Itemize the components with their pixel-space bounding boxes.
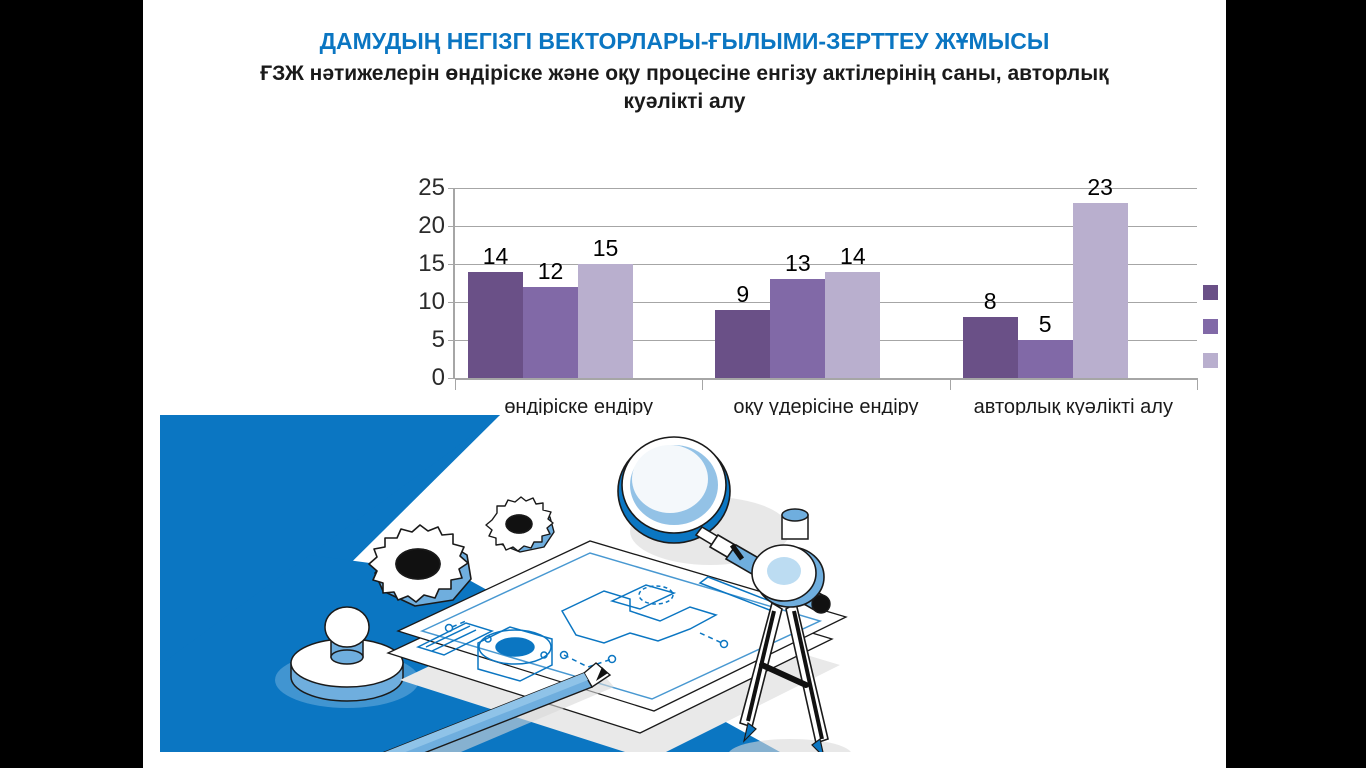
chart-bar-value-label: 23 [1073,176,1128,199]
legend-item-2022[interactable]: 2022 [1203,275,1226,309]
y-axis-label: 15 [365,252,445,276]
y-axis-tick [448,188,455,189]
x-axis-separator [1197,378,1198,390]
y-axis-tick [448,378,455,379]
chart-bar-value-label: 12 [523,260,578,283]
y-axis-label: 25 [365,176,445,200]
chart-legend: 202220232024 [1203,275,1226,377]
y-axis-tick [448,340,455,341]
chart-bar-value-label: 9 [715,283,770,306]
chart-bar-value-label: 14 [825,245,880,268]
y-axis-label: 5 [365,328,445,352]
isometric-engineering-blueprint-illustration [160,415,1160,752]
chart-bar [468,272,523,378]
chart-plot-area: 0510152025 141215913148523 өндіріске енд… [453,188,1197,378]
chart-bar [770,279,825,378]
chart-bar-value-label: 14 [468,245,523,268]
legend-swatch-icon [1203,353,1218,368]
legend-swatch-icon [1203,285,1218,300]
chart-bar-value-label: 5 [1018,313,1073,336]
chart-bar-value-label: 15 [578,237,633,260]
y-axis-tick [448,226,455,227]
chart-bar-value-label: 13 [770,252,825,275]
y-axis-tick [448,264,455,265]
y-axis-label: 10 [365,290,445,314]
page-title: ДАМУДЫҢ НЕГІЗГІ ВЕКТОРЛАРЫ-ҒЫЛЫМИ-ЗЕРТТЕ… [143,28,1226,54]
legend-swatch-icon [1203,319,1218,334]
x-axis-separator [702,378,703,390]
chart-bar [1018,340,1073,378]
chart-x-axis [455,378,1197,380]
bar-chart: 0510152025 141215913148523 өндіріске енд… [253,180,1213,425]
x-axis-separator [950,378,951,390]
legend-item-2023[interactable]: 2023 [1203,309,1226,343]
chart-bar [963,317,1018,378]
title-block: ДАМУДЫҢ НЕГІЗГІ ВЕКТОРЛАРЫ-ҒЫЛЫМИ-ЗЕРТТЕ… [143,28,1226,116]
chart-bar-value-label: 8 [963,290,1018,313]
chart-bar [715,310,770,378]
page-subtitle: ҒЗЖ нәтижелерін өндіріске және оқу проце… [143,60,1226,115]
y-axis-label: 0 [365,366,445,390]
legend-item-2024[interactable]: 2024 [1203,343,1226,377]
y-axis-tick [448,302,455,303]
y-axis-label: 20 [365,214,445,238]
slide-canvas: ДАМУДЫҢ НЕГІЗГІ ВЕКТОРЛАРЫ-ҒЫЛЫМИ-ЗЕРТТЕ… [143,0,1226,768]
chart-bar [578,264,633,378]
chart-bar [825,272,880,378]
chart-bar [1073,203,1128,378]
chart-bar [523,287,578,378]
x-axis-separator [455,378,456,390]
